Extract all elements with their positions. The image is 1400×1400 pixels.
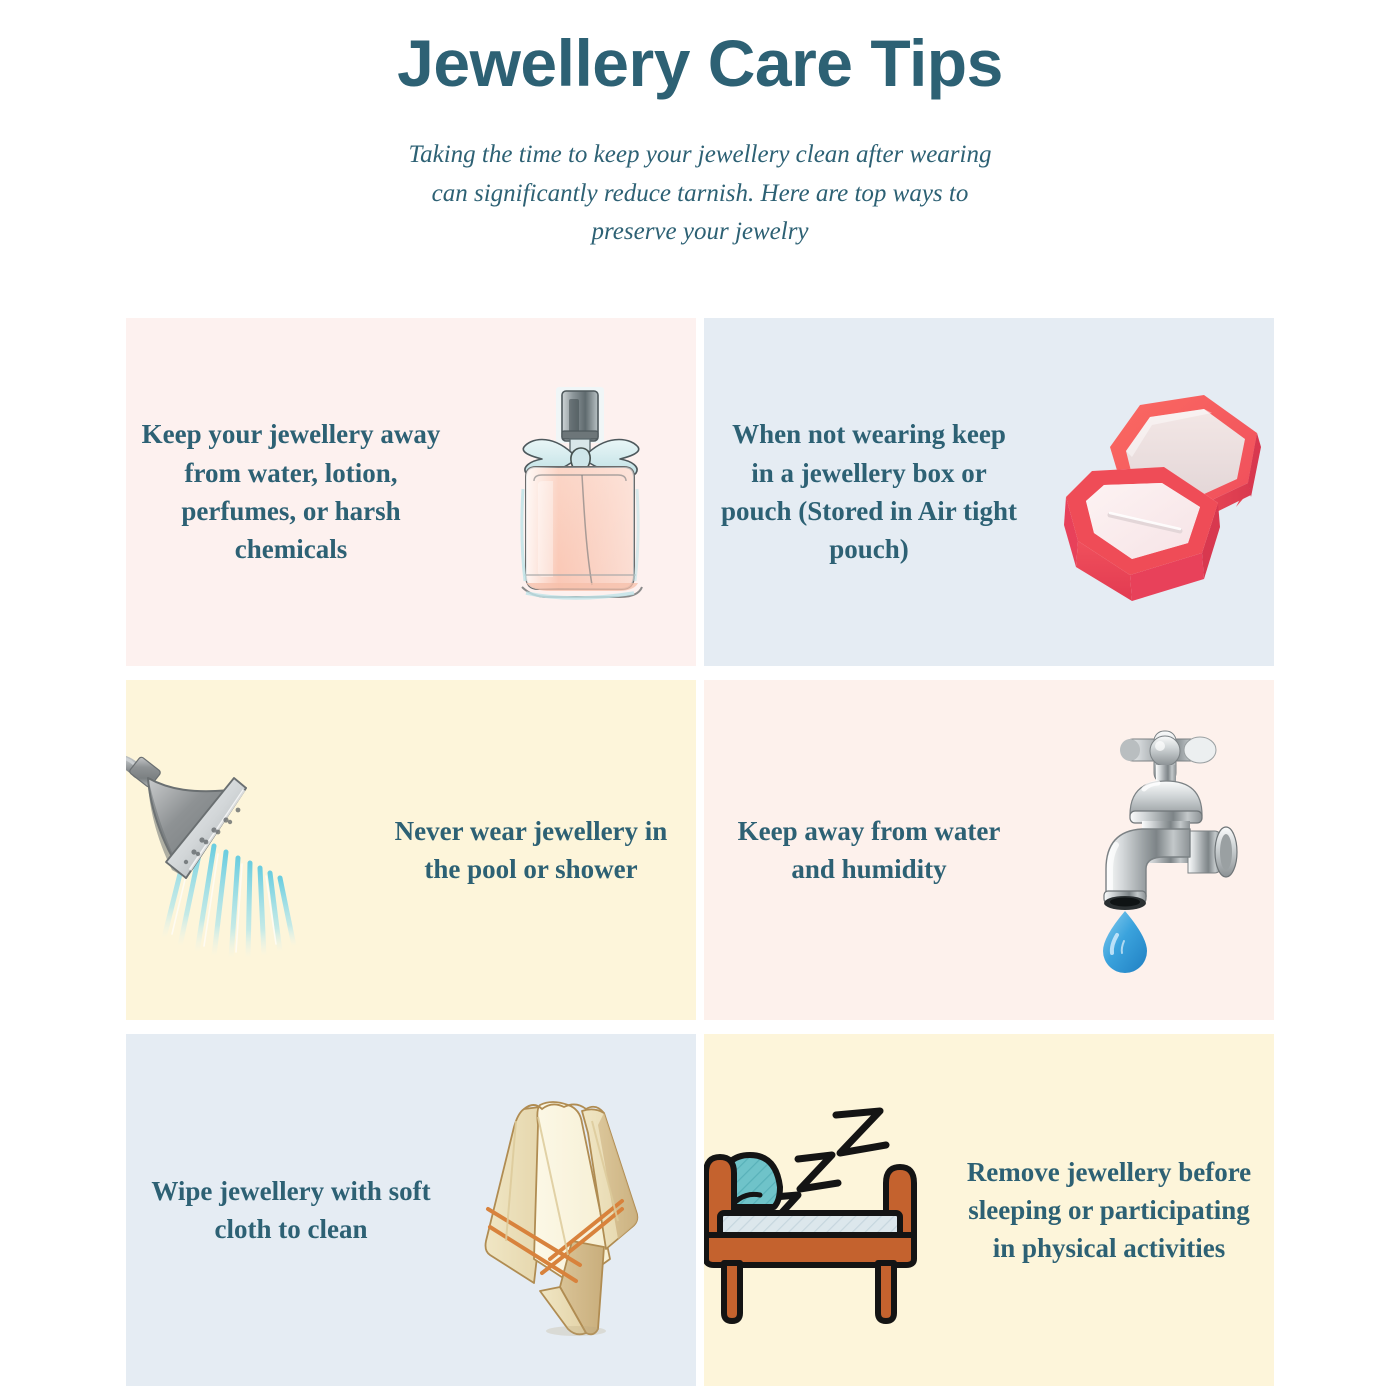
tip-text-storage: When not wearing keep in a jewellery box… [704, 415, 1034, 568]
tip-text-shower: Never wear jewellery in the pool or show… [366, 812, 696, 889]
ring-box-icon [1052, 375, 1272, 610]
shower-head-icon [126, 730, 344, 970]
tip-art-chemicals [456, 318, 696, 666]
tip-card-sleep: Remove jewellery before sleeping or part… [704, 1034, 1274, 1386]
tip-card-storage: When not wearing keep in a jewellery box… [704, 318, 1274, 666]
header: Jewellery Care Tips Taking the time to k… [0, 0, 1400, 252]
tip-card-wipe: Wipe jewellery with soft cloth to clean [126, 1034, 696, 1386]
tip-text-sleep: Remove jewellery before sleeping or part… [944, 1153, 1274, 1268]
page-title: Jewellery Care Tips [0, 26, 1400, 102]
tip-art-storage [1034, 318, 1274, 666]
tip-card-chemicals: Keep your jewellery away from water, lot… [126, 318, 696, 666]
tip-text-humidity: Keep away from water and humidity [704, 812, 1034, 889]
infographic-page: Jewellery Care Tips Taking the time to k… [0, 0, 1400, 1400]
tip-art-shower [126, 680, 366, 1020]
page-subtitle: Taking the time to keep your jewellery c… [390, 136, 1010, 252]
tip-text-wipe: Wipe jewellery with soft cloth to clean [126, 1172, 456, 1249]
tip-card-humidity: Keep away from water and humidity [704, 680, 1274, 1020]
tip-art-humidity [1034, 680, 1274, 1020]
faucet-drip-icon [1060, 721, 1260, 971]
perfume-bottle-icon [490, 369, 670, 619]
tip-art-wipe [456, 1034, 696, 1386]
tip-card-shower: Never wear jewellery in the pool or show… [126, 680, 696, 1020]
tips-grid: Keep your jewellery away from water, lot… [126, 318, 1274, 1386]
tip-text-chemicals: Keep your jewellery away from water, lot… [126, 415, 456, 568]
bed-sleep-icon [704, 1101, 930, 1331]
tip-art-sleep [704, 1034, 944, 1386]
polishing-cloth-icon [476, 1091, 676, 1341]
